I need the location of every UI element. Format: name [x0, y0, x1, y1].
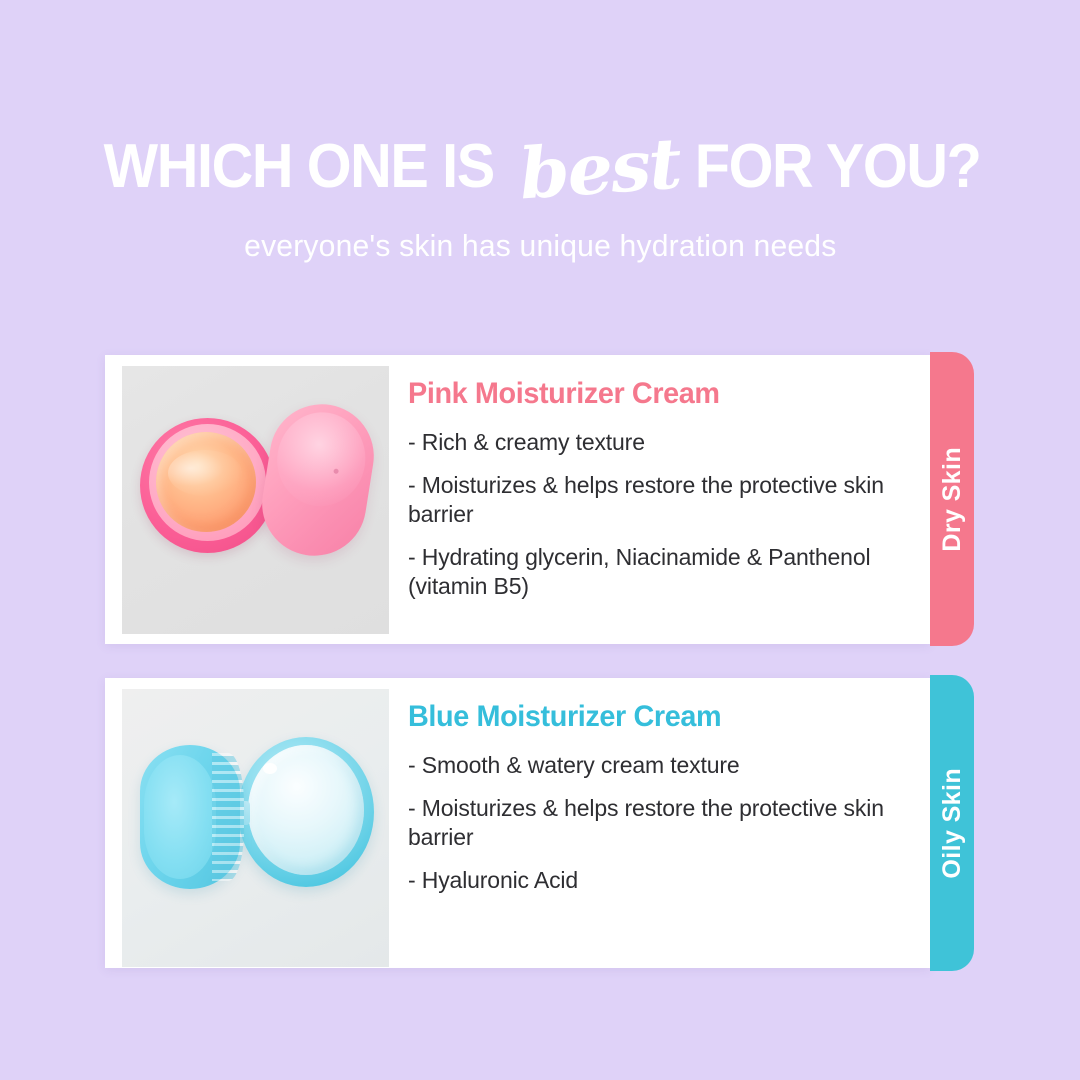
- feature-item: - Moisturizes & helps restore the protec…: [408, 794, 906, 852]
- feature-item: - Hydrating glycerin, Niacinamide & Pant…: [408, 543, 906, 601]
- product-card-pink[interactable]: Pink Moisturizer Cream - Rich & creamy t…: [105, 355, 930, 644]
- feature-item: - Hyaluronic Acid: [408, 866, 906, 895]
- product-title-pink: Pink Moisturizer Cream: [408, 377, 886, 410]
- skin-type-tab-dry[interactable]: Dry Skin: [930, 352, 974, 646]
- tab-label-oily-skin: Oily Skin: [938, 768, 967, 879]
- page-subtitle: everyone's skin has unique hydration nee…: [244, 228, 836, 264]
- lid-highlight: [270, 406, 372, 513]
- title-script-word: best: [517, 128, 682, 209]
- feature-item: - Moisturizes & helps restore the protec…: [408, 471, 906, 529]
- product-card-blue[interactable]: Blue Moisturizer Cream - Smooth & watery…: [105, 678, 930, 968]
- product-image-pink: [122, 366, 389, 634]
- jar-lid-shape: [140, 745, 240, 889]
- title-text-after: FOR YOU?: [694, 136, 980, 198]
- lid-ribs: [212, 753, 244, 881]
- feature-item: - Smooth & watery cream texture: [408, 751, 906, 780]
- card-inner: Blue Moisturizer Cream - Smooth & watery…: [105, 678, 930, 968]
- card-content-pink: Pink Moisturizer Cream - Rich & creamy t…: [389, 355, 930, 601]
- cream-highlight: [263, 763, 277, 774]
- tab-label-dry-skin: Dry Skin: [938, 447, 967, 552]
- product-image-blue: [122, 689, 389, 967]
- cream-highlight: [168, 450, 242, 496]
- card-content-blue: Blue Moisturizer Cream - Smooth & watery…: [389, 678, 930, 895]
- card-inner: Pink Moisturizer Cream - Rich & creamy t…: [105, 355, 930, 644]
- page-header: WHICH ONE ISbestFOR YOU? everyone's skin…: [0, 0, 1080, 264]
- page-title: WHICH ONE ISbestFOR YOU?: [0, 128, 1080, 198]
- product-title-blue: Blue Moisturizer Cream: [408, 700, 886, 733]
- jar-lid-shape: [255, 397, 381, 563]
- lid-highlight: [144, 755, 216, 879]
- title-text-before: WHICH ONE IS: [104, 136, 494, 198]
- feature-item: - Rich & creamy texture: [408, 428, 906, 457]
- skin-type-tab-oily[interactable]: Oily Skin: [930, 675, 974, 971]
